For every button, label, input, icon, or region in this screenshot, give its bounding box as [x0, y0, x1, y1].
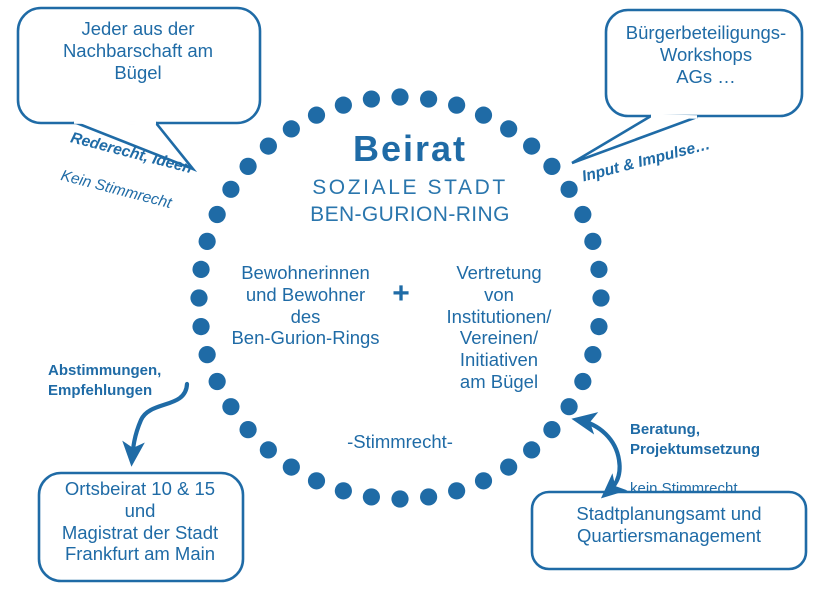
- ring-dot: [391, 88, 408, 105]
- box-bottom-left-label: Ortsbeirat 10 & 15 und Magistrat der Sta…: [40, 478, 240, 565]
- annotation-bottom-right-bold: Beratung, Projektumsetzung: [630, 420, 820, 460]
- ring-group-residents: Bewohnerinnen und Bewohner des Ben-Gurio…: [218, 262, 393, 349]
- annotation-bottom-left: Abstimmungen, Empfehlungen: [48, 361, 238, 402]
- ring-dot: [190, 289, 207, 306]
- plus-icon: +: [386, 276, 416, 311]
- ring-dot: [590, 261, 607, 278]
- ring-dot: [448, 482, 465, 499]
- ring-dot: [523, 441, 540, 458]
- ring-dot: [543, 421, 560, 438]
- ring-dot: [475, 107, 492, 124]
- ring-dot: [590, 318, 607, 335]
- annotation-bottom-right: Beratung, Projektumsetzung kein Stimmrec…: [630, 400, 820, 519]
- ring-dot: [335, 97, 352, 114]
- bubble-top-left-label: Jeder aus der Nachbarschaft am Bügel: [32, 18, 244, 83]
- ring-dot: [239, 421, 256, 438]
- ring-dot: [308, 107, 325, 124]
- ring-dot: [335, 482, 352, 499]
- ring-group-institutions: Vertretung von Institutionen/ Vereinen/ …: [420, 262, 578, 393]
- arrow-right-consultation: [578, 420, 620, 494]
- ring-dot: [560, 181, 577, 198]
- ring-dot: [584, 233, 601, 250]
- bubble-tail-mask-top-right: [651, 116, 697, 117]
- ring-dot: [475, 472, 492, 489]
- ring-dot: [500, 458, 517, 475]
- ring-dot: [584, 346, 601, 363]
- diagram-canvas: Beirat SOZIALE STADT BEN-GURION-RING Bew…: [0, 0, 820, 600]
- ring-dot: [192, 261, 209, 278]
- ring-dot: [363, 90, 380, 107]
- ring-dot: [260, 441, 277, 458]
- page-title: Beirat: [260, 128, 560, 170]
- ring-dot: [574, 206, 591, 223]
- ring-dot: [283, 458, 300, 475]
- annotation-bottom-right-regular: kein Stimmrecht: [630, 479, 820, 499]
- ring-dot: [448, 97, 465, 114]
- ring-dot: [363, 488, 380, 505]
- voting-rights-note: -Stimmrecht-: [300, 431, 500, 453]
- page-subtitle-line1: SOZIALE STADT: [260, 176, 560, 201]
- bubble-top-right-label: Bürgerbeteiligungs- Workshops AGs …: [606, 22, 806, 87]
- ring-dot: [308, 472, 325, 489]
- ring-dot: [391, 490, 408, 507]
- ring-dot: [192, 318, 209, 335]
- ring-dot: [420, 488, 437, 505]
- ring-dot: [592, 289, 609, 306]
- page-subtitle-line2: BEN-GURION-RING: [260, 203, 560, 228]
- ring-dot: [420, 90, 437, 107]
- ring-dot: [560, 398, 577, 415]
